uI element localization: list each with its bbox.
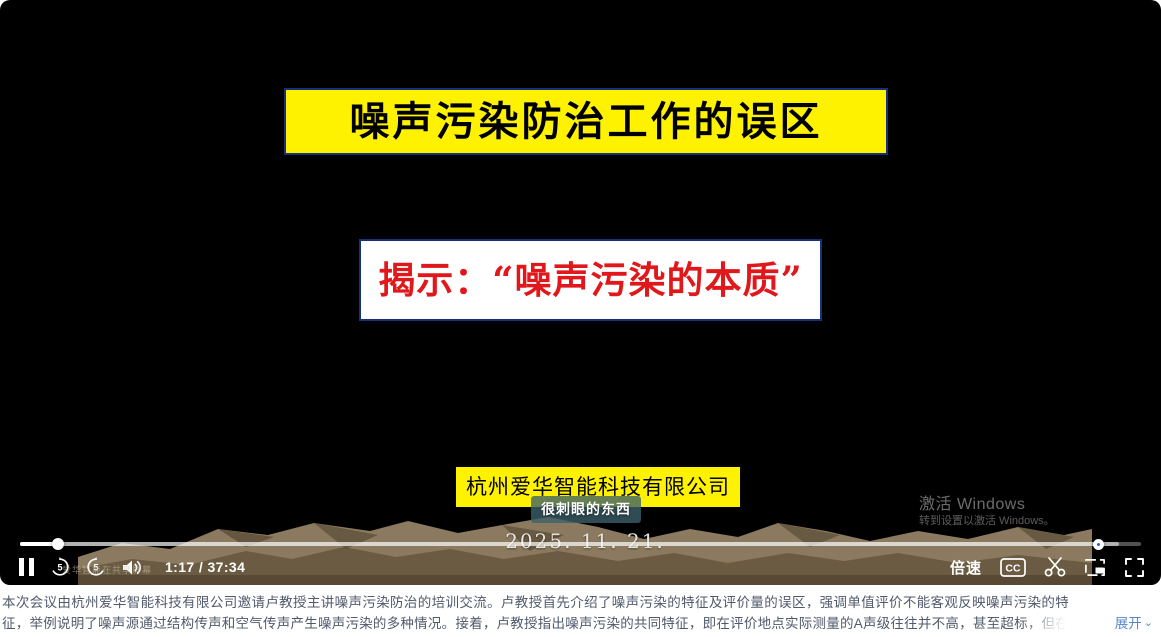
video-stage[interactable]: 噪声污染防治工作的误区 揭示：“噪声污染的本质” 杭州爱华智能科技有限公司 很刺… bbox=[78, 0, 1092, 585]
danmaku-text: 很刺眼的东西 bbox=[541, 501, 631, 517]
slide-subtitle: 揭示：“噪声污染的本质” bbox=[378, 262, 803, 299]
video-player[interactable]: 噪声污染防治工作的误区 揭示：“噪声污染的本质” 杭州爱华智能科技有限公司 很刺… bbox=[0, 0, 1161, 585]
controls-right-group: 倍速 CC bbox=[950, 552, 1145, 582]
slide-title: 噪声污染防治工作的误区 bbox=[350, 102, 823, 142]
slide-subtitle-box: 揭示：“噪声污染的本质” bbox=[359, 239, 822, 321]
windows-watermark-line1: 激活 Windows bbox=[919, 495, 1092, 514]
screen-share-watermark: 爱华智能在共享屏幕 bbox=[62, 563, 152, 576]
expand-description-button[interactable]: 展开 ⌄ bbox=[1115, 613, 1153, 634]
expand-label: 展开 bbox=[1115, 613, 1142, 634]
speed-button[interactable]: 倍速 bbox=[950, 557, 982, 578]
time-display: 1:17 / 37:34 bbox=[165, 559, 245, 575]
chapter-marker-dot[interactable] bbox=[1093, 539, 1104, 550]
fullscreen-icon[interactable] bbox=[1124, 557, 1145, 578]
pause-button[interactable] bbox=[18, 557, 35, 577]
windows-watermark-line2: 转到设置以激活 Windows。 bbox=[919, 514, 1092, 529]
progress-buffer bbox=[20, 542, 1119, 546]
scissors-icon[interactable] bbox=[1044, 556, 1066, 578]
svg-text:CC: CC bbox=[1005, 562, 1021, 574]
chevron-down-icon: ⌄ bbox=[1144, 613, 1153, 634]
cc-icon[interactable]: CC bbox=[1000, 558, 1026, 577]
video-description: 本次会议由杭州爱华智能科技有限公司邀请卢教授主讲噪声污染防治的培训交流。卢教授首… bbox=[0, 592, 1161, 637]
progress-handle[interactable] bbox=[52, 538, 64, 550]
windows-activation-watermark: 激活 Windows 转到设置以激活 Windows。 bbox=[919, 495, 1092, 529]
danmaku-comment: 很刺眼的东西 bbox=[531, 496, 641, 523]
slide-title-banner: 噪声污染防治工作的误区 bbox=[284, 88, 888, 155]
picture-in-picture-icon[interactable] bbox=[1084, 558, 1106, 577]
progress-bar[interactable] bbox=[20, 538, 1141, 550]
description-text: 本次会议由杭州爱华智能科技有限公司邀请卢教授主讲噪声污染防治的培训交流。卢教授首… bbox=[2, 592, 1155, 634]
